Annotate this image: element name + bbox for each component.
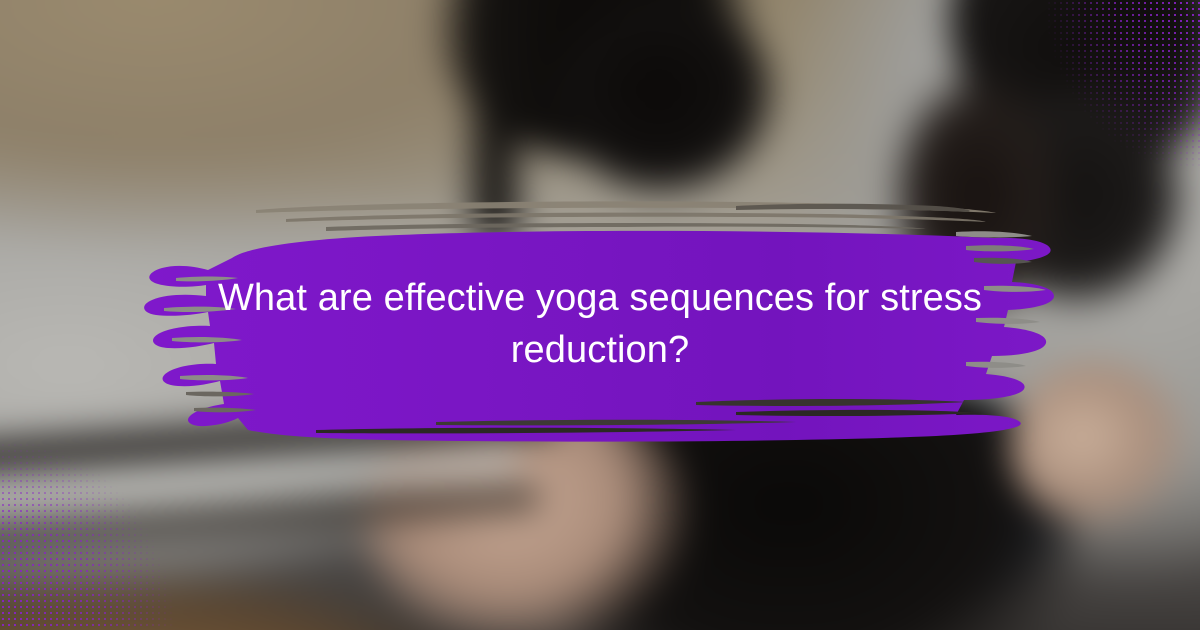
- social-card: What are effective yoga sequences for st…: [0, 0, 1200, 630]
- page-title: What are effective yoga sequences for st…: [150, 272, 1050, 376]
- equipment-silhouette-top-b: [560, 0, 780, 200]
- brush-top-streaks: [256, 201, 996, 231]
